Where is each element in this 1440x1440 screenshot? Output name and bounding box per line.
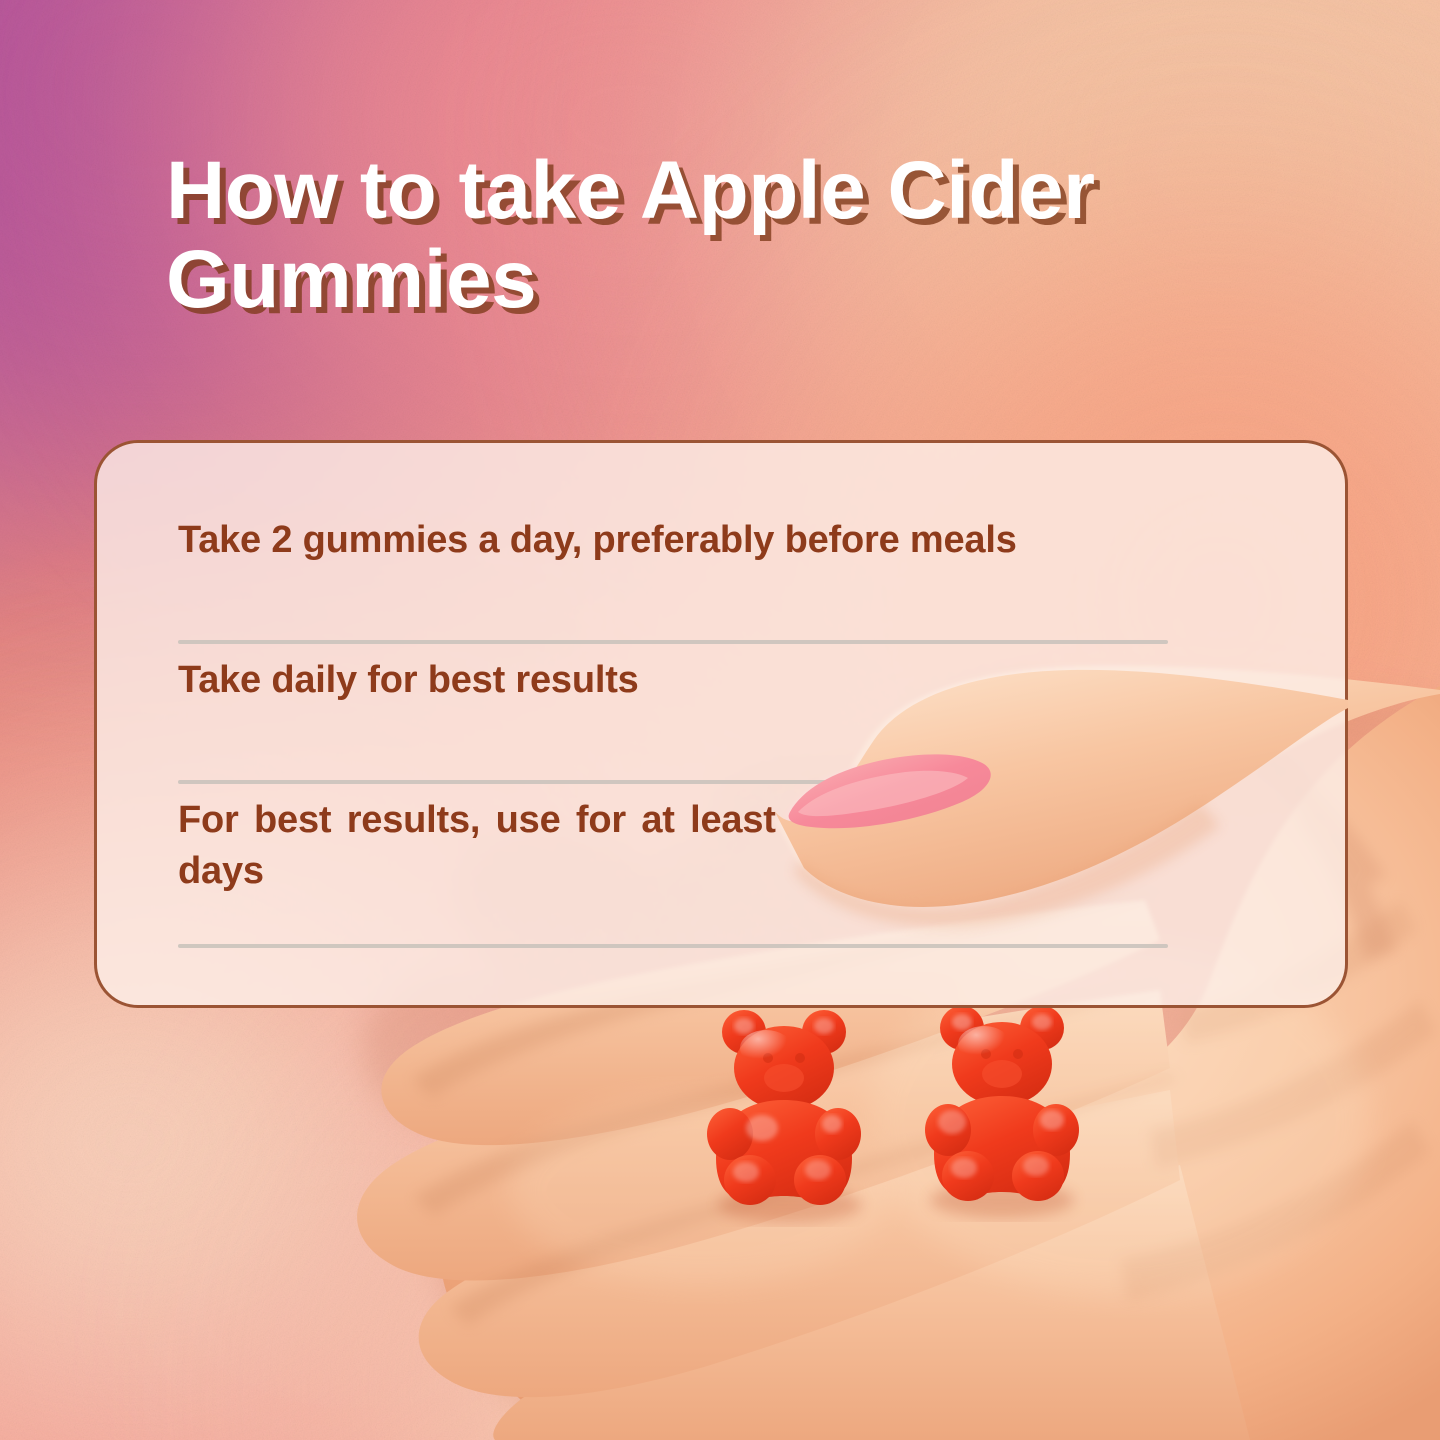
list-divider xyxy=(178,780,1168,784)
list-item: For best results, use for at least 30 da… xyxy=(178,795,1168,945)
list-divider xyxy=(178,944,1168,948)
list-item-label: For best results, use for at least 30 da… xyxy=(178,795,833,896)
list-item-label: Take daily for best results xyxy=(178,655,1168,706)
infographic-canvas: How to take Apple Cider Gummies xyxy=(0,0,1440,1440)
page-title: How to take Apple Cider Gummies xyxy=(166,146,1286,325)
list-item-label: Take 2 gummies a day, preferably before … xyxy=(178,515,1168,566)
instructions-list: Take 2 gummies a day, preferably before … xyxy=(178,443,1168,1005)
list-divider xyxy=(178,640,1168,644)
list-item: Take 2 gummies a day, preferably before … xyxy=(178,515,1168,645)
instructions-card: Take 2 gummies a day, preferably before … xyxy=(94,440,1348,1008)
list-item: Take daily for best results xyxy=(178,655,1168,785)
